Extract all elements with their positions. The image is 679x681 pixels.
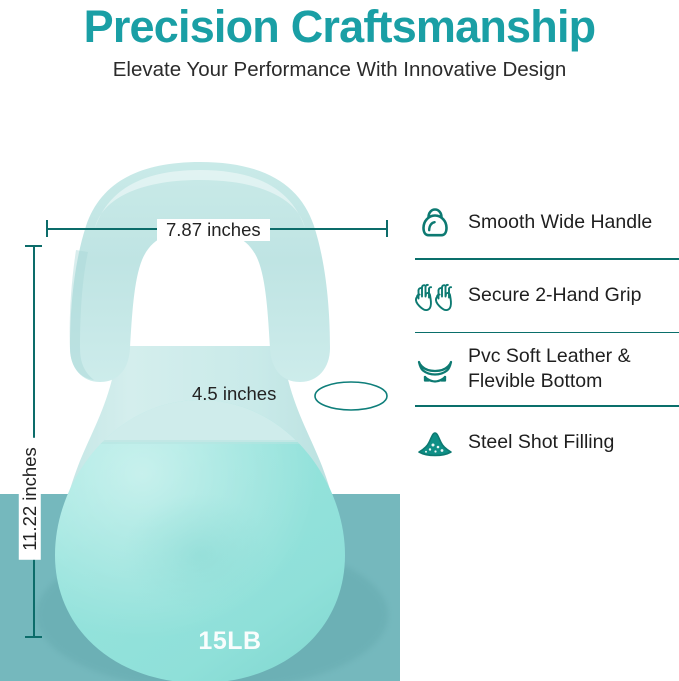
height-dimension-cap-top [25, 245, 42, 247]
shot-pile-icon [412, 420, 458, 466]
page-title: Precision Craftsmanship [0, 2, 679, 52]
page-subtitle: Elevate Your Performance With Innovative… [0, 57, 679, 83]
feature-item-secure-2-hand-grip[interactable]: Secure 2-Hand Grip [412, 260, 679, 332]
height-dimension-label: 11.22 inches [19, 438, 41, 560]
feature-list: Smooth Wide Handle [412, 186, 679, 479]
product-stage: 15LB 7.87 inches 11.22 inches 4.5 inches [0, 100, 400, 681]
feature-item-pvc-soft-leather-flexible-bottom[interactable]: Pvc Soft Leather & Flevible Bottom [412, 333, 679, 405]
product-infographic: Precision Craftsmanship Elevate Your Per… [0, 0, 679, 681]
feature-label: Secure 2-Hand Grip [468, 283, 679, 308]
feature-label: Smooth Wide Handle [468, 210, 679, 235]
feature-label: Pvc Soft Leather & Flevible Bottom [468, 344, 679, 394]
feature-item-steel-shot-filling[interactable]: Steel Shot Filling [412, 407, 679, 479]
handle-girth-label: 4.5 inches [192, 383, 276, 405]
width-dimension-label: 7.87 inches [157, 219, 270, 241]
handle-girth-ellipse [313, 379, 389, 413]
height-dimension-cap-bottom [25, 636, 42, 638]
feature-label: Steel Shot Filling [468, 430, 679, 455]
width-dimension-cap-right [386, 220, 388, 237]
width-dimension-cap-left [46, 220, 48, 237]
kettlebell-icon [412, 199, 458, 245]
two-hands-icon [412, 273, 458, 319]
weight-stamp: 15LB [150, 627, 310, 655]
flexible-bottom-icon [412, 346, 458, 392]
feature-item-smooth-wide-handle[interactable]: Smooth Wide Handle [412, 186, 679, 258]
header: Precision Craftsmanship Elevate Your Per… [0, 0, 679, 100]
